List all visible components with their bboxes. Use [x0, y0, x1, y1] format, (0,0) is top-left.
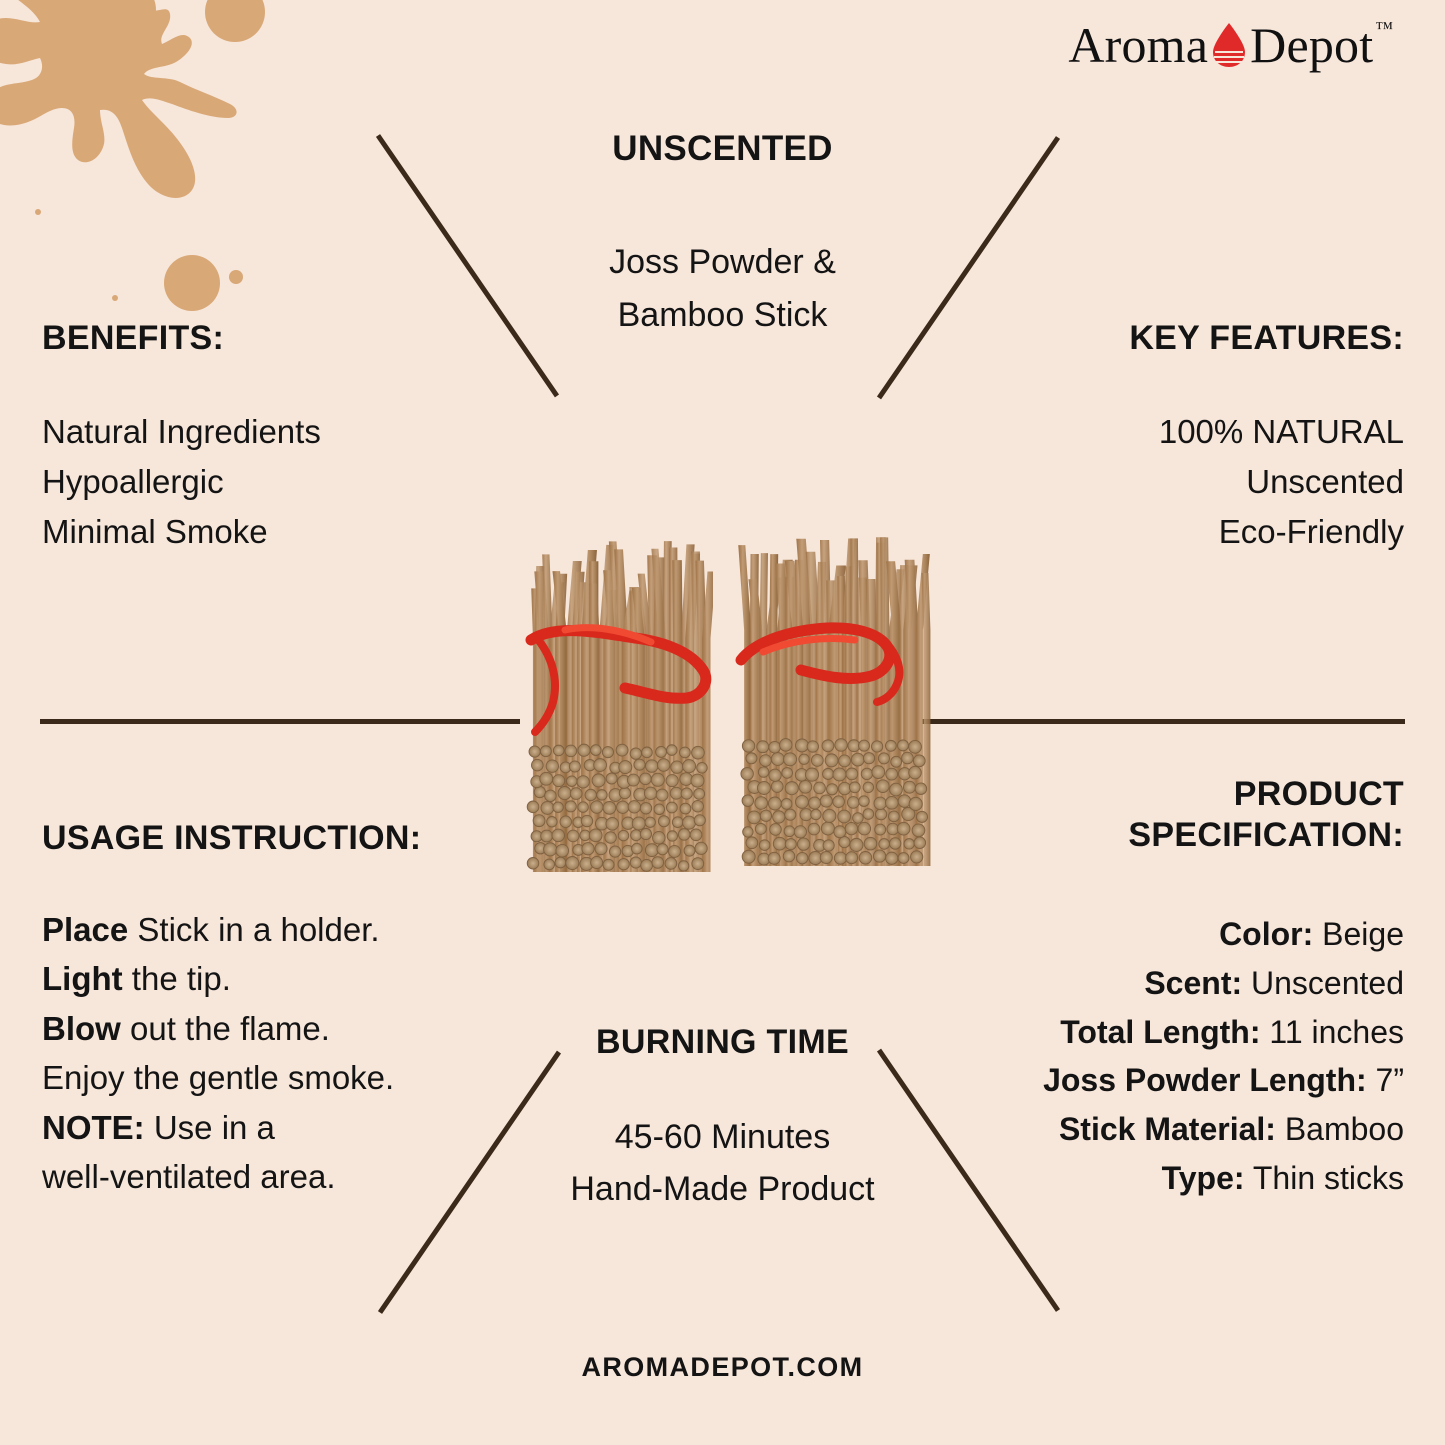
usage-step: Place Stick in a holder.: [42, 905, 512, 955]
key-features-heading: KEY FEATURES:: [1000, 318, 1404, 359]
key-features-item: Unscented: [1000, 457, 1404, 507]
usage-step: Light the tip.: [42, 954, 512, 1004]
benefits-item: Hypoallergic: [42, 457, 462, 507]
specification-row: Scent: Unscented: [930, 959, 1404, 1008]
product-image-incense-bundles: [505, 520, 945, 890]
burning-time-heading: BURNING TIME: [460, 1022, 985, 1063]
section-unscented: UNSCENTED Joss Powder & Bamboo Stick: [460, 128, 985, 341]
section-burning-time: BURNING TIME 45-60 Minutes Hand-Made Pro…: [460, 1022, 985, 1216]
paint-splatter-decoration: [0, 0, 300, 320]
section-benefits: BENEFITS: Natural Ingredients Hypoallerg…: [42, 318, 462, 557]
divider-line-horizontal-right: [922, 719, 1405, 724]
usage-heading: USAGE INSTRUCTION:: [42, 818, 512, 859]
specification-row: Type: Thin sticks: [930, 1154, 1404, 1203]
section-key-features: KEY FEATURES: 100% NATURAL Unscented Eco…: [1000, 318, 1404, 557]
usage-steps: Place Stick in a holder.Light the tip.Bl…: [42, 905, 512, 1202]
specification-heading-line2: SPECIFICATION:: [930, 815, 1404, 856]
footer-website[interactable]: AROMADEPOT.COM: [0, 1352, 1445, 1383]
red-droplet-icon: [1210, 21, 1248, 69]
divider-line-horizontal-left: [40, 719, 520, 724]
usage-step: Blow out the flame.: [42, 1004, 512, 1054]
benefits-lines: Natural Ingredients Hypoallergic Minimal…: [42, 407, 462, 557]
usage-step: well-ventilated area.: [42, 1152, 512, 1202]
specification-rows: Color: BeigeScent: UnscentedTotal Length…: [930, 910, 1404, 1204]
infographic-page: Aroma Depot ™: [0, 0, 1445, 1445]
unscented-line: Joss Powder &: [460, 236, 985, 289]
unscented-heading: UNSCENTED: [460, 128, 985, 170]
burning-time-line: Hand-Made Product: [460, 1163, 985, 1216]
specification-row: Joss Powder Length: 7”: [930, 1056, 1404, 1105]
specification-row: Color: Beige: [930, 910, 1404, 959]
key-features-lines: 100% NATURAL Unscented Eco-Friendly: [1000, 407, 1404, 557]
brand-logo: Aroma Depot ™: [1068, 14, 1393, 76]
unscented-line: Bamboo Stick: [460, 289, 985, 342]
specification-row: Stick Material: Bamboo: [930, 1105, 1404, 1154]
specification-row: Total Length: 11 inches: [930, 1008, 1404, 1057]
key-features-item: 100% NATURAL: [1000, 407, 1404, 457]
burning-time-line: 45-60 Minutes: [460, 1111, 985, 1164]
benefits-item: Minimal Smoke: [42, 507, 462, 557]
benefits-heading: BENEFITS:: [42, 318, 462, 359]
trademark-symbol: ™: [1375, 18, 1393, 39]
section-product-specification: PRODUCT SPECIFICATION: Color: BeigeScent…: [930, 774, 1404, 1203]
brand-name-part2: Depot: [1250, 20, 1373, 70]
usage-step: Enjoy the gentle smoke.: [42, 1053, 512, 1103]
unscented-lines: Joss Powder & Bamboo Stick: [460, 236, 985, 341]
key-features-item: Eco-Friendly: [1000, 507, 1404, 557]
benefits-item: Natural Ingredients: [42, 407, 462, 457]
usage-step: NOTE: Use in a: [42, 1103, 512, 1153]
brand-name-part1: Aroma: [1068, 20, 1208, 70]
section-usage-instruction: USAGE INSTRUCTION: Place Stick in a hold…: [42, 818, 512, 1202]
specification-heading-line1: PRODUCT: [930, 774, 1404, 815]
burning-time-lines: 45-60 Minutes Hand-Made Product: [460, 1111, 985, 1216]
